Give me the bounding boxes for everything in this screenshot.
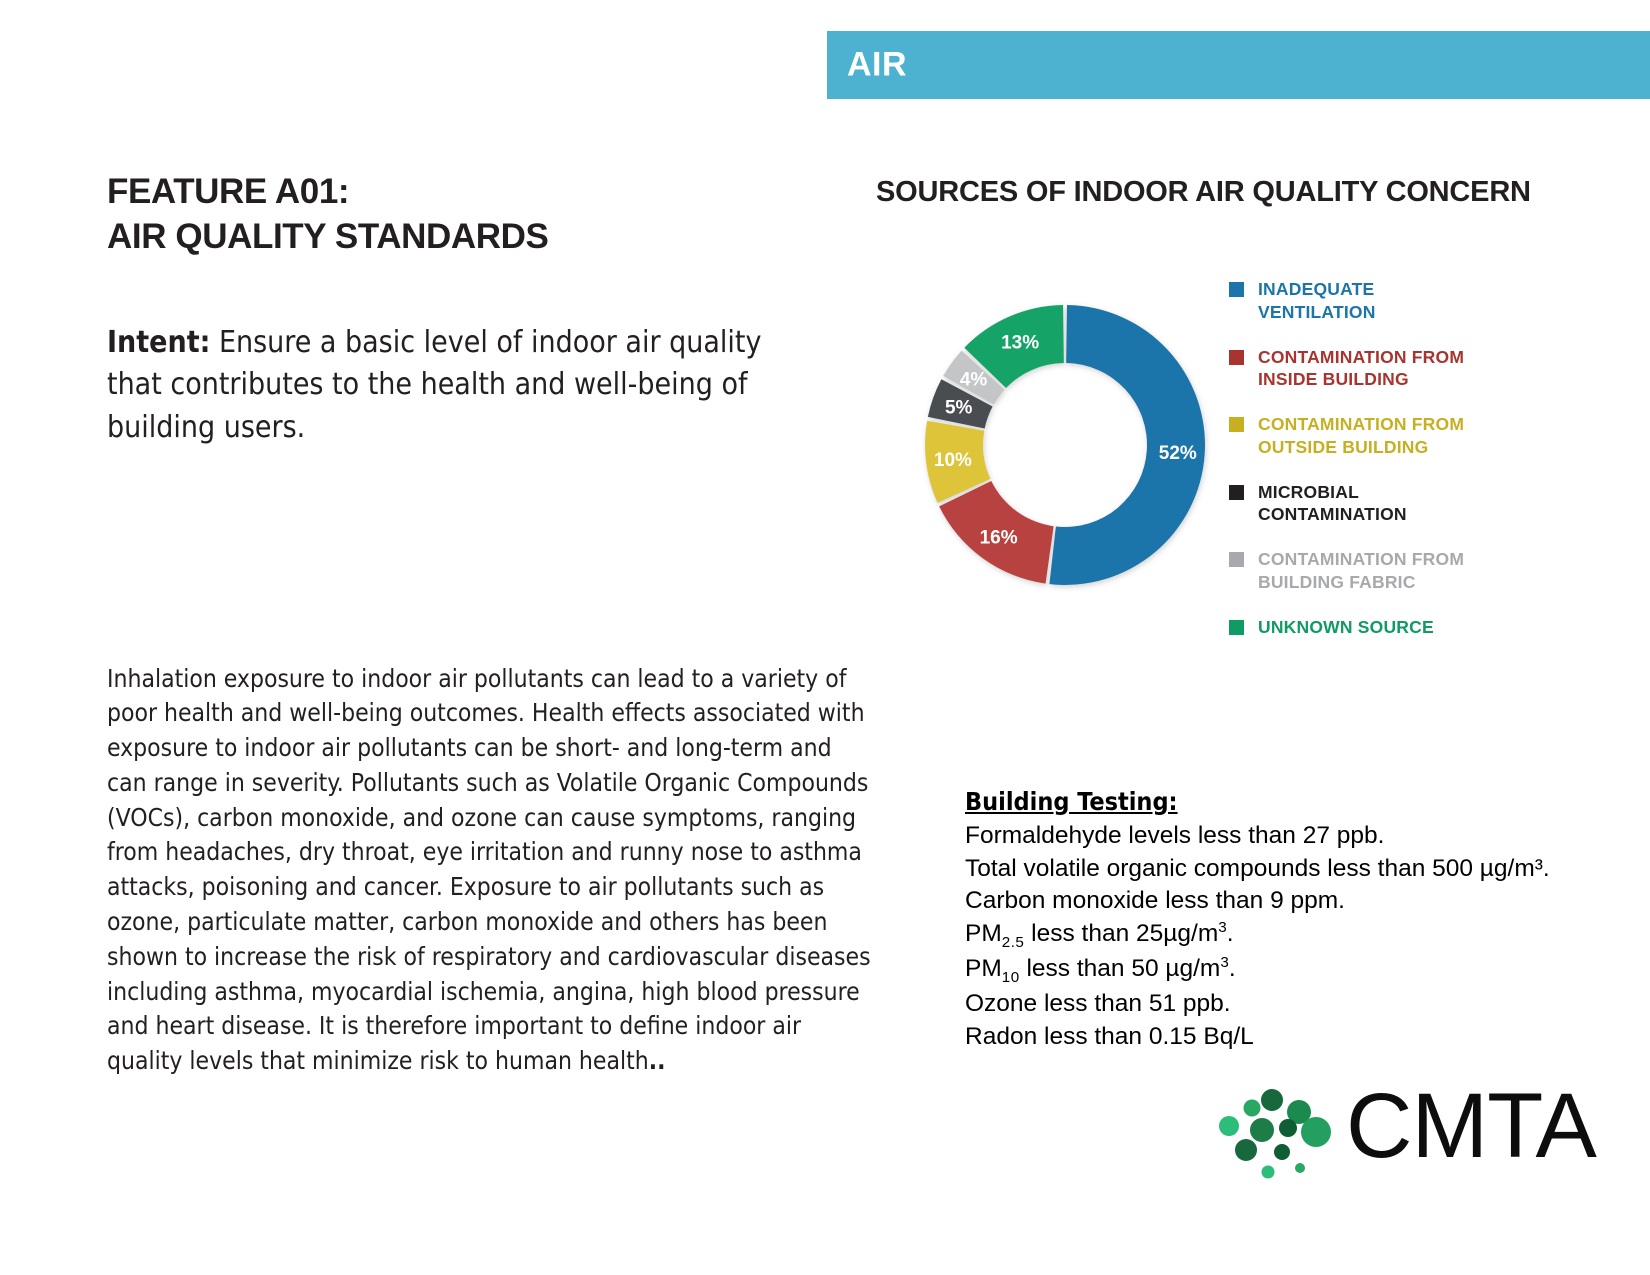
pm10-rest: less than 50 µg/m (1020, 955, 1221, 982)
legend-item-microbial-contamination: MICROBIAL CONTAMINATION (1229, 481, 1529, 527)
legend-item-inadequate-ventilation: INADEQUATE VENTILATION (1229, 278, 1529, 324)
legend-item-contamination-building-fabric: CONTAMINATION FROM BUILDING FABRIC (1229, 548, 1529, 594)
pm10-superscript: 3 (1220, 954, 1228, 971)
testing-line-formaldehyde: Formaldehyde levels less than 27 ppb. (965, 820, 1565, 853)
legend-swatch-icon (1229, 485, 1244, 500)
testing-line-ozone: Ozone less than 51 ppb. (965, 988, 1565, 1021)
legend-swatch-icon (1229, 417, 1244, 432)
building-testing-section: Building Testing: Formaldehyde levels le… (965, 785, 1565, 1054)
pm25-end: . (1227, 920, 1234, 947)
testing-line-carbon-monoxide: Carbon monoxide less than 9 ppm. (965, 885, 1565, 918)
testing-line-pm25: PM2.5 less than 25µg/m3. (965, 918, 1565, 953)
legend-swatch-icon (1229, 350, 1244, 365)
pm25-subscript: 2.5 (1002, 934, 1025, 951)
left-content-column: FEATURE A01: AIR QUALITY STANDARDS Inten… (107, 170, 877, 479)
legend-swatch-icon (1229, 552, 1244, 567)
legend-label: UNKNOWN SOURCE (1258, 616, 1434, 639)
donut-chart: 52%16%10%5%4%13% (905, 285, 1225, 605)
cmta-logo-dots-icon (1196, 1068, 1346, 1193)
pm25-rest: less than 25µg/m (1024, 920, 1218, 947)
pm25-superscript: 3 (1218, 919, 1226, 936)
donut-slice-label: 10% (934, 450, 972, 471)
pm10-end: . (1229, 955, 1236, 982)
body-paragraph: Inhalation exposure to indoor air pollut… (107, 662, 877, 1079)
donut-slice-label: 5% (945, 398, 973, 419)
body-text-tail: .. (649, 1046, 666, 1075)
cmta-wordmark: CMTA (1346, 1080, 1596, 1172)
pm25-prefix: PM (965, 920, 1002, 947)
intent-paragraph: Intent: Ensure a basic level of indoor a… (107, 322, 807, 450)
pm10-subscript: 10 (1002, 969, 1020, 986)
cmta-logo: CMTA (1196, 1068, 1546, 1193)
intent-label: Intent: (107, 325, 210, 360)
legend-label: CONTAMINATION FROM OUTSIDE BUILDING (1258, 413, 1464, 459)
donut-slice-label: 4% (960, 370, 988, 391)
testing-line-radon: Radon less than 0.15 Bq/L (965, 1021, 1565, 1054)
feature-title-line-2: AIR QUALITY STANDARDS (107, 215, 877, 260)
legend-swatch-icon (1229, 282, 1244, 297)
body-text: Inhalation exposure to indoor air pollut… (107, 664, 871, 1076)
banner-label: AIR (847, 46, 907, 85)
legend-item-contamination-outside-building: CONTAMINATION FROM OUTSIDE BUILDING (1229, 413, 1529, 459)
chart-title: SOURCES OF INDOOR AIR QUALITY CONCERN (876, 176, 1531, 209)
donut-chart-svg: 52%16%10%5%4%13% (905, 285, 1225, 605)
legend-swatch-icon (1229, 620, 1244, 635)
air-banner: AIR (827, 31, 1650, 99)
donut-slice-label: 52% (1159, 443, 1197, 464)
testing-line-tvoc: Total volatile organic compounds less th… (965, 853, 1565, 886)
donut-slice-label: 16% (980, 527, 1018, 548)
legend-label: CONTAMINATION FROM BUILDING FABRIC (1258, 548, 1464, 594)
pm10-prefix: PM (965, 955, 1002, 982)
page-title: FEATURE A01: AIR QUALITY STANDARDS (107, 170, 877, 260)
legend-item-unknown-source: UNKNOWN SOURCE (1229, 616, 1529, 639)
legend-label: MICROBIAL CONTAMINATION (1258, 481, 1407, 527)
feature-title-line-1: FEATURE A01: (107, 172, 349, 211)
chart-legend: INADEQUATE VENTILATION CONTAMINATION FRO… (1229, 278, 1529, 660)
building-testing-heading: Building Testing: (965, 785, 1565, 818)
donut-slice-label: 13% (1001, 332, 1039, 353)
legend-label: INADEQUATE VENTILATION (1258, 278, 1376, 324)
legend-item-contamination-inside-building: CONTAMINATION FROM INSIDE BUILDING (1229, 346, 1529, 392)
legend-label: CONTAMINATION FROM INSIDE BUILDING (1258, 346, 1464, 392)
testing-line-pm10: PM10 less than 50 µg/m3. (965, 953, 1565, 988)
